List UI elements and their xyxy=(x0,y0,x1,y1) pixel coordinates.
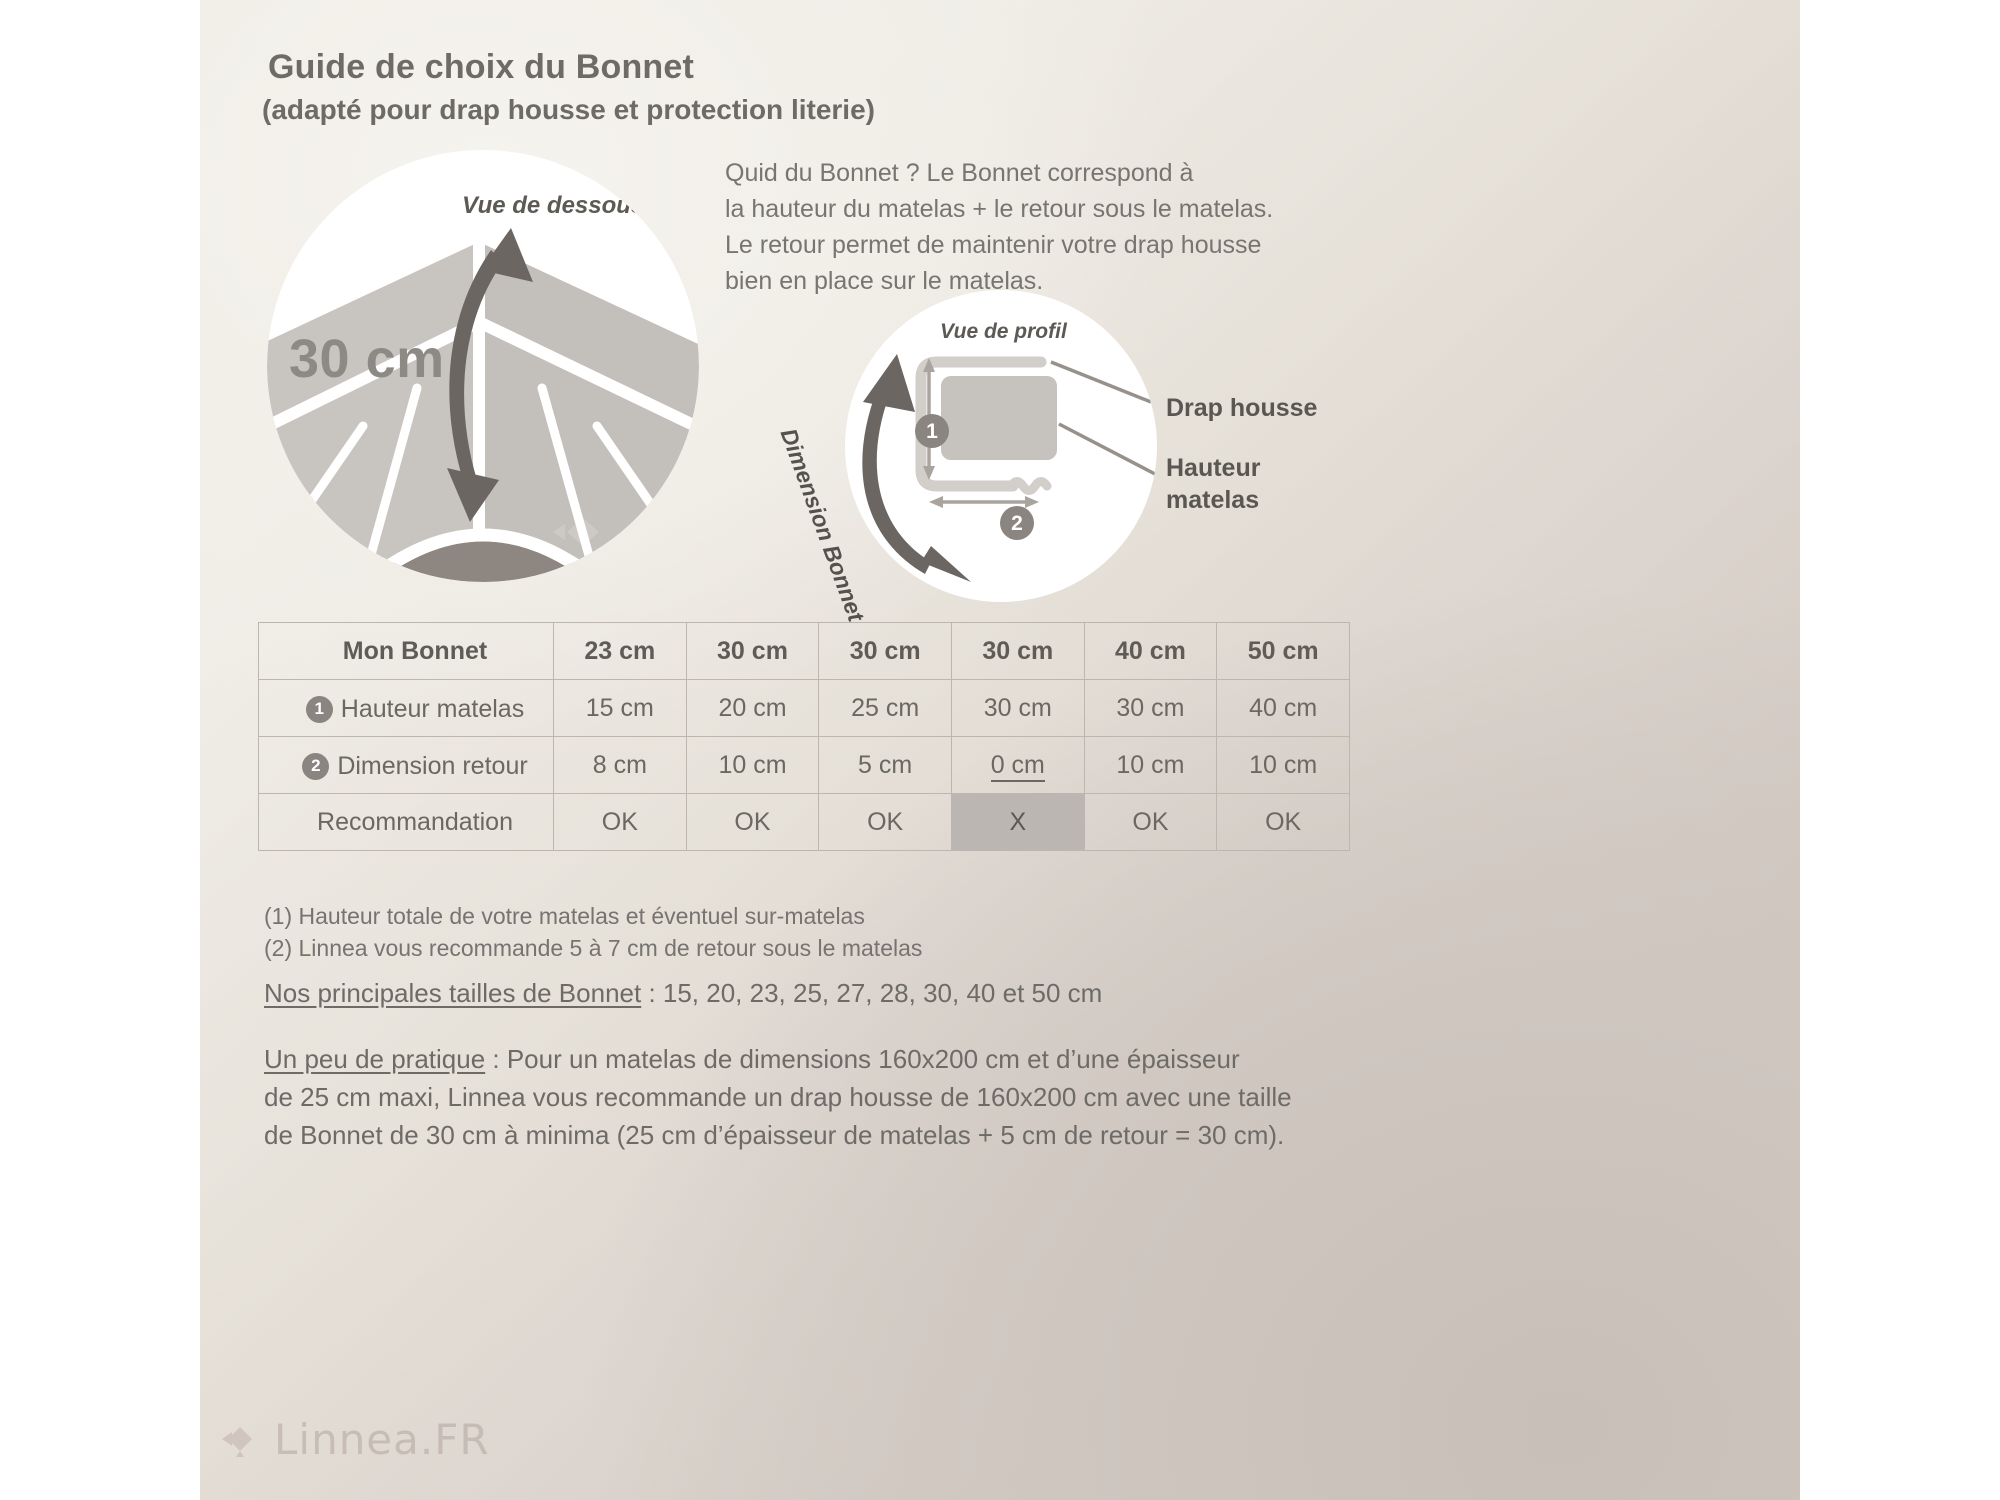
callout-hauteur-line-1: Hauteur xyxy=(1166,452,1260,484)
table-header-cell-3: 30 cm xyxy=(819,623,952,680)
table-row: Recommandation OK OK OK X OK OK xyxy=(259,794,1350,851)
table-cell: 30 cm xyxy=(951,680,1084,737)
callout-hauteur-matelas: Hauteur matelas xyxy=(1166,452,1260,516)
page-subtitle: (adapté pour drap housse et protection l… xyxy=(262,94,875,126)
badge-1-profile: 1 xyxy=(915,414,949,448)
footnote-2: (2) Linnea vous recommande 5 à 7 cm de r… xyxy=(264,932,922,964)
row-label-dimension-retour: 2 Dimension retour xyxy=(259,737,554,794)
table-cell-highlighted: X xyxy=(951,794,1084,851)
table-cell-underlined: 0 cm xyxy=(991,751,1045,782)
table-header-cell-2: 30 cm xyxy=(686,623,819,680)
practice-line-3: de Bonnet de 30 cm à minima (25 cm d’épa… xyxy=(264,1116,1374,1154)
badge-2-table: 2 xyxy=(302,753,329,780)
table-cell: 5 cm xyxy=(819,737,952,794)
practice-line-1-rest: : Pour un matelas de dimensions 160x200 … xyxy=(485,1044,1239,1074)
table-cell: OK xyxy=(1217,794,1350,851)
badge-2-profile: 2 xyxy=(1000,506,1034,540)
table-cell: 8 cm xyxy=(554,737,687,794)
callout-hauteur-line-2: matelas xyxy=(1166,484,1260,516)
row-label-text: Hauteur matelas xyxy=(341,695,524,724)
footnotes-block: (1) Hauteur totale de votre matelas et é… xyxy=(264,900,922,964)
table-cell: 15 cm xyxy=(554,680,687,737)
table-cell: 25 cm xyxy=(819,680,952,737)
table-header-cell-0: Mon Bonnet xyxy=(259,623,554,680)
practice-line-2: de 25 cm maxi, Linnea vous recommande un… xyxy=(264,1078,1374,1116)
table-cell: 30 cm xyxy=(1084,680,1217,737)
table-cell: 10 cm xyxy=(1084,737,1217,794)
infographic-page: Guide de choix du Bonnet (adapté pour dr… xyxy=(0,0,2000,1500)
profile-view-label: Vue de profil xyxy=(940,320,1067,344)
callout-drap-housse: Drap housse xyxy=(1166,392,1317,424)
table-row: 1 Hauteur matelas 15 cm 20 cm 25 cm 30 c… xyxy=(259,680,1350,737)
intro-paragraph: Quid du Bonnet ? Le Bonnet correspond à … xyxy=(725,155,1345,299)
table-header-row: Mon Bonnet 23 cm 30 cm 30 cm 30 cm 40 cm… xyxy=(259,623,1350,680)
bonnet-table: Mon Bonnet 23 cm 30 cm 30 cm 30 cm 40 cm… xyxy=(258,622,1350,851)
table-cell: OK xyxy=(554,794,687,851)
table-header-cell-1: 23 cm xyxy=(554,623,687,680)
intro-line-1: Quid du Bonnet ? Le Bonnet correspond à xyxy=(725,155,1345,191)
table-header-cell-6: 50 cm xyxy=(1217,623,1350,680)
table-cell: 20 cm xyxy=(686,680,819,737)
table-cell: OK xyxy=(819,794,952,851)
intro-line-3: Le retour permet de maintenir votre drap… xyxy=(725,227,1345,263)
table-cell: OK xyxy=(1084,794,1217,851)
bonnet-table-wrapper: Mon Bonnet 23 cm 30 cm 30 cm 30 cm 40 cm… xyxy=(258,622,1350,851)
table-cell: 0 cm xyxy=(951,737,1084,794)
table-cell: 10 cm xyxy=(686,737,819,794)
table-cell: 40 cm xyxy=(1217,680,1350,737)
table-row: 2 Dimension retour 8 cm 10 cm 5 cm 0 cm … xyxy=(259,737,1350,794)
infographic-canvas: Guide de choix du Bonnet (adapté pour dr… xyxy=(200,0,1800,1500)
row-label-hauteur-matelas: 1 Hauteur matelas xyxy=(259,680,554,737)
badge-1-table: 1 xyxy=(306,696,333,723)
row-label-recommandation: Recommandation xyxy=(259,794,554,851)
page-title: Guide de choix du Bonnet xyxy=(268,48,694,87)
bonnet-measure-value: 30 cm xyxy=(289,328,445,390)
profile-view-diagram: Vue de profil 1 2 xyxy=(845,290,1157,602)
linnea-logo[interactable]: Linnea.FR xyxy=(218,1415,490,1464)
practice-label: Un peu de pratique xyxy=(264,1044,485,1074)
available-sizes-line: Nos principales tailles de Bonnet : 15, … xyxy=(264,978,1102,1009)
logo-text: Linnea.FR xyxy=(274,1415,490,1464)
table-header-cell-5: 40 cm xyxy=(1084,623,1217,680)
practice-line-1: Un peu de pratique : Pour un matelas de … xyxy=(264,1040,1374,1078)
table-header-cell-4: 30 cm xyxy=(951,623,1084,680)
bottom-view-label: Vue de dessous xyxy=(462,192,644,220)
diamond-arrow-icon xyxy=(218,1419,260,1461)
available-sizes-label: Nos principales tailles de Bonnet xyxy=(264,978,641,1008)
table-cell: OK xyxy=(686,794,819,851)
bottom-view-diagram: Vue de dessous 30 cm xyxy=(267,150,699,582)
footnote-1: (1) Hauteur totale de votre matelas et é… xyxy=(264,900,922,932)
available-sizes-value: : 15, 20, 23, 25, 27, 28, 30, 40 et 50 c… xyxy=(641,978,1102,1008)
table-cell: 10 cm xyxy=(1217,737,1350,794)
intro-line-2: la hauteur du matelas + le retour sous l… xyxy=(725,191,1345,227)
row-label-text: Dimension retour xyxy=(337,752,527,781)
practice-block: Un peu de pratique : Pour un matelas de … xyxy=(264,1040,1374,1154)
